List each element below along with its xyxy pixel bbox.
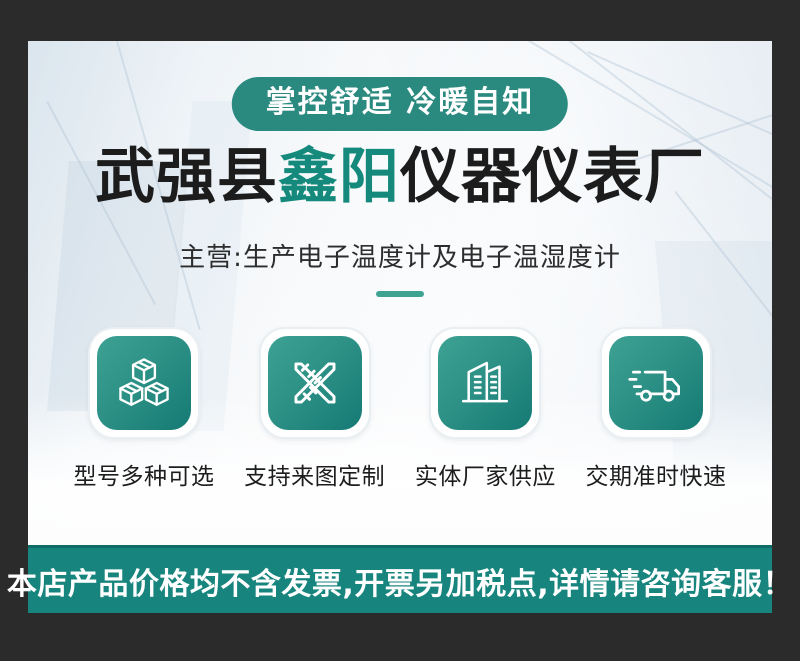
feature-icon-inner [268, 336, 362, 430]
feature-item[interactable]: 实体厂家供应 [401, 327, 569, 491]
title-part-one: 武强县 [95, 142, 278, 212]
pen-ruler-icon [286, 354, 344, 412]
tagline-badge: 掌控舒适 冷暖自知 [232, 77, 568, 131]
feature-item[interactable]: 支持来图定制 [231, 327, 399, 491]
feature-label: 实体厂家供应 [415, 457, 556, 491]
feature-icon-tile [259, 327, 371, 439]
tagline-text: 掌控舒适 冷暖自知 [266, 85, 534, 120]
feature-item[interactable]: 交期准时快速 [572, 327, 740, 491]
boxes-icon [115, 354, 173, 412]
footer-notice-banner: 本店产品价格均不含发票,开票另加税点,详情请咨询客服！ [28, 545, 772, 613]
feature-icon-tile [88, 327, 200, 439]
feature-icon-tile [429, 327, 541, 439]
outer-frame: 掌控舒适 冷暖自知 武强县鑫阳仪器仪表厂 主营:生产电子温度计及电子温湿度计 [0, 0, 800, 661]
feature-icon-tile [600, 327, 712, 439]
footer-notice-text: 本店产品价格均不含发票,开票另加税点,详情请咨询客服！ [7, 559, 793, 603]
page-title: 武强县鑫阳仪器仪表厂 [28, 145, 772, 210]
delivery-truck-icon [627, 354, 685, 412]
feature-label: 交期准时快速 [585, 457, 726, 491]
feature-label: 支持来图定制 [244, 457, 385, 491]
title-brand-name: 鑫阳 [278, 142, 400, 212]
factory-buildings-icon [456, 354, 514, 412]
feature-icon-inner [438, 336, 532, 430]
page-subtitle: 主营:生产电子温度计及电子温湿度计 [28, 237, 772, 274]
title-part-two: 仪器仪表厂 [400, 142, 705, 212]
feature-label: 型号多种可选 [74, 457, 215, 491]
section-divider [376, 291, 424, 297]
feature-icon-inner [609, 336, 703, 430]
feature-icon-inner [97, 336, 191, 430]
feature-item[interactable]: 型号多种可选 [60, 327, 228, 491]
feature-list: 型号多种可选 [60, 327, 740, 491]
hero-panel: 掌控舒适 冷暖自知 武强县鑫阳仪器仪表厂 主营:生产电子温度计及电子温湿度计 [28, 41, 772, 545]
